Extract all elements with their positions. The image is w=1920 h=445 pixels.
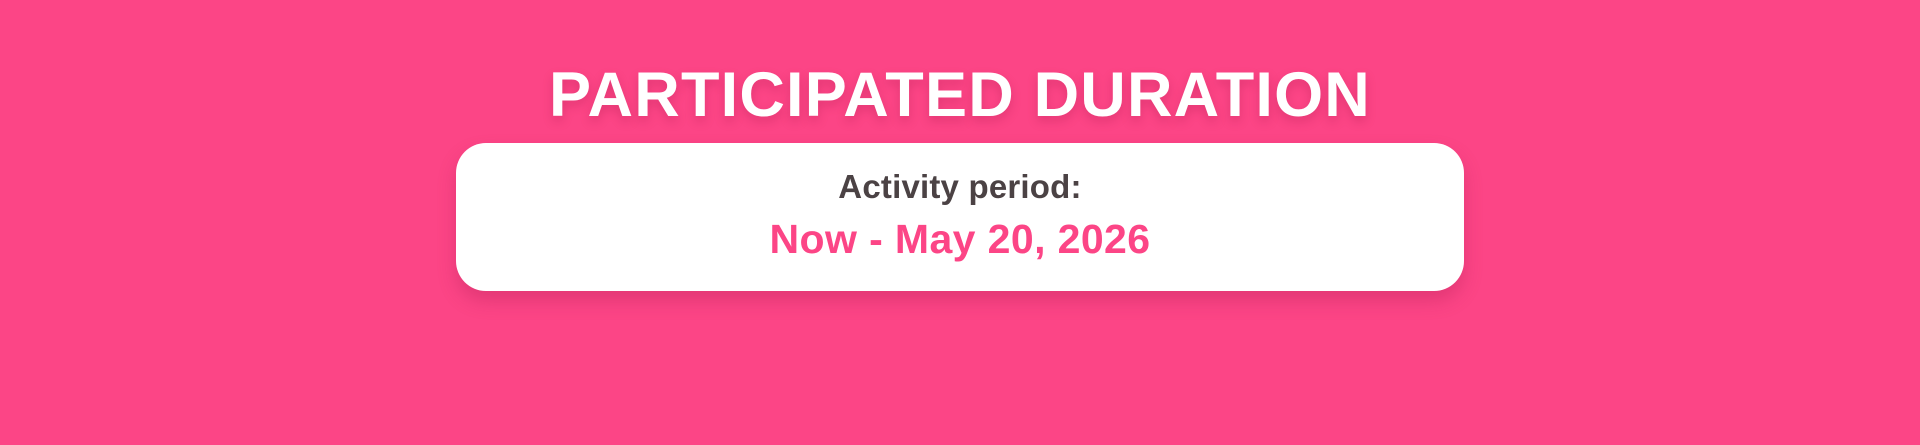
page-title: PARTICIPATED DURATION — [0, 62, 1920, 128]
participated-duration-banner: PARTICIPATED DURATION Activity period: N… — [0, 0, 1920, 445]
activity-period-value: Now - May 20, 2026 — [770, 215, 1151, 264]
activity-period-card: Activity period: Now - May 20, 2026 — [456, 143, 1464, 291]
activity-period-label: Activity period: — [838, 166, 1081, 207]
